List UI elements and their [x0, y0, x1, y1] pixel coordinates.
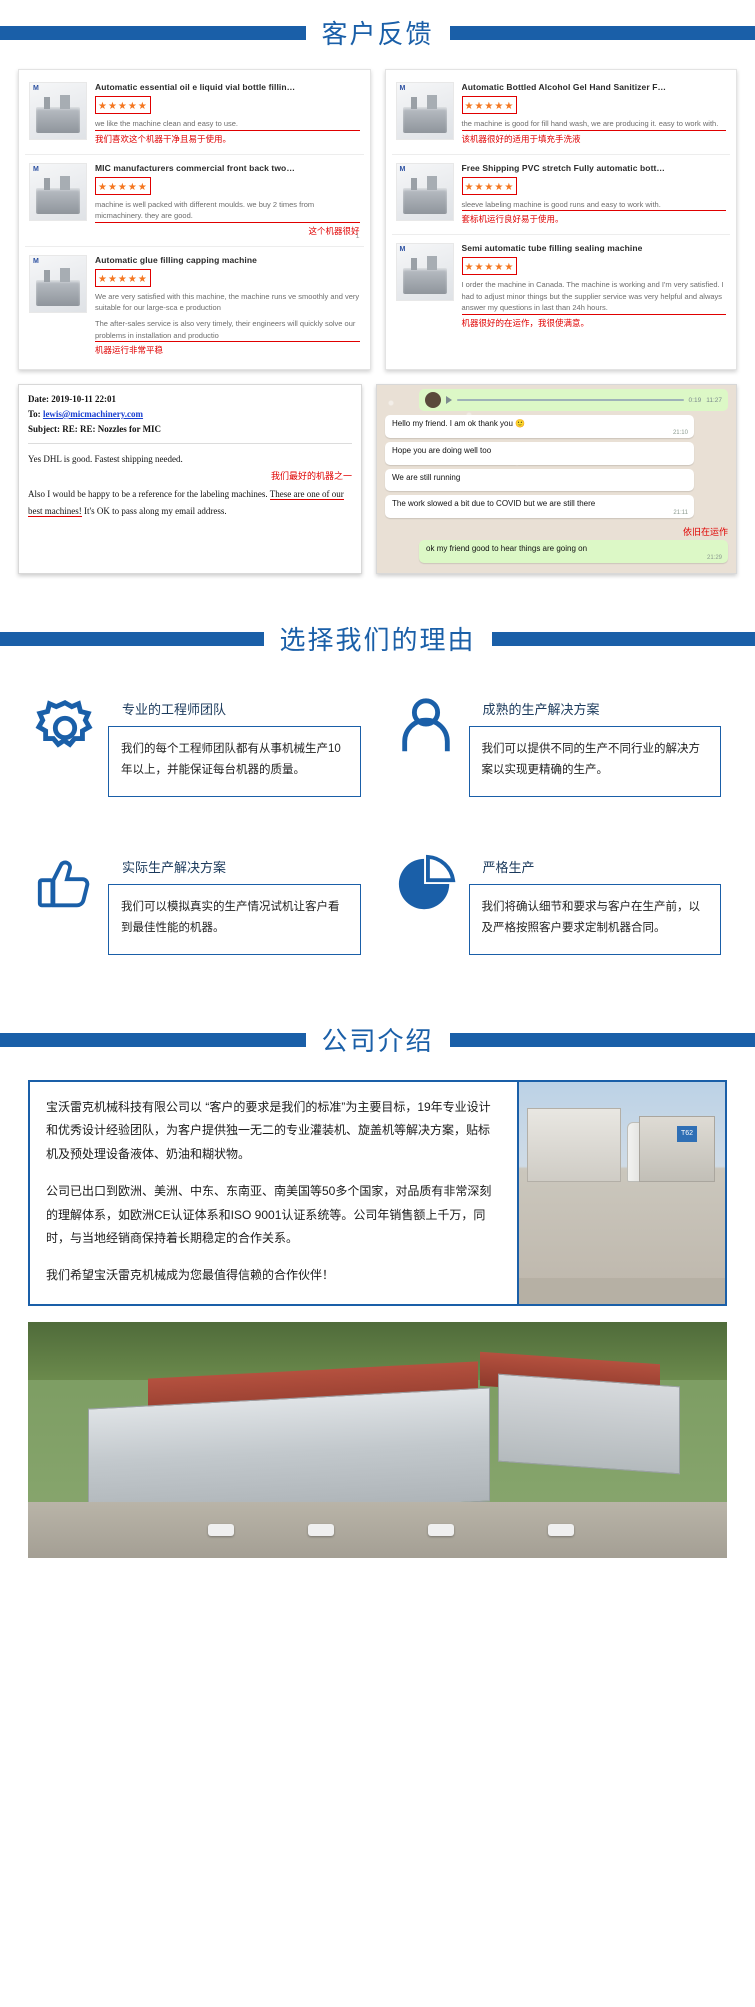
car [428, 1524, 454, 1536]
voice-message[interactable]: 0:19 11:27 [419, 389, 728, 411]
header-bar-left [0, 632, 264, 646]
review-card[interactable]: M Automatic essential oil e liquid vial … [25, 74, 364, 155]
email-to-label: To: [28, 409, 41, 419]
review-body: Semi automatic tube filling sealing mach… [462, 243, 727, 330]
road [28, 1502, 727, 1558]
email-date-value: 2019-10-11 22:01 [51, 394, 116, 404]
email-date-label: Date: [28, 394, 49, 404]
header-bar-left [0, 1033, 306, 1047]
company-paragraph-2: 公司已出口到欧洲、美洲、中东、东南亚、南美国等50多个国家，对品质有非常深刻的理… [46, 1180, 501, 1250]
star-rating: ★★★★★ [95, 96, 151, 114]
thumb-logo-icon: M [33, 166, 39, 173]
review-body: MIC manufacturers commercial front back … [95, 163, 360, 238]
chat-text: Hello my friend. I am ok thank you 🙂 [392, 419, 525, 428]
review-text-cn: 套标机运行良好易于使用。 [462, 214, 727, 226]
email-divider [28, 443, 352, 444]
star-rating: ★★★★★ [462, 177, 518, 195]
email-date-row: Date: 2019-10-11 22:01 [28, 392, 352, 407]
feedback-column-right: M Automatic Bottled Alcohol Gel Hand San… [385, 69, 738, 370]
stars-glyphs: ★★★★★ [98, 274, 148, 285]
page-root: 客户反馈 M Automatic essential oil e liquid … [0, 0, 755, 1582]
section-header-reasons: 选择我们的理由 [0, 620, 755, 657]
product-thumbnail: M [29, 255, 87, 313]
review-card[interactable]: M Semi automatic tube filling sealing ma… [392, 235, 731, 338]
header-bar-right [492, 632, 755, 646]
review-body: Automatic glue filling capping machine ★… [95, 255, 360, 357]
company-text: 宝沃雷克机械科技有限公司以 “客户的要求是我们的标准”为主要目标，19年专业设计… [30, 1082, 517, 1304]
company-intro-box: 宝沃雷克机械科技有限公司以 “客户的要求是我们的标准”为主要目标，19年专业设计… [28, 1080, 727, 1306]
email-line-2c: It's OK to pass along my email address. [82, 506, 227, 516]
voice-timestamp: 11:27 [706, 397, 722, 404]
company-paragraph-3: 我们希望宝沃雷克机械成为您最值得信赖的合作伙伴！ [46, 1264, 501, 1287]
gear-icon [34, 695, 96, 757]
thumb-logo-icon: M [33, 258, 39, 265]
review-text-en: sleeve labeling machine is good runs and… [462, 199, 727, 212]
thumb-logo-icon: M [400, 85, 406, 92]
review-title[interactable]: Automatic glue filling capping machine [95, 255, 360, 265]
play-icon[interactable] [446, 396, 452, 404]
chat-bubble: Hope you are doing well too [385, 442, 694, 465]
warehouse-building [527, 1108, 621, 1182]
chat-text: Hope you are doing well too [392, 446, 491, 455]
email-screenshot: Date: 2019-10-11 22:01 To: lewis@micmach… [18, 384, 362, 574]
star-rating: ★★★★★ [95, 177, 151, 195]
review-card[interactable]: M Automatic Bottled Alcohol Gel Hand San… [392, 74, 731, 155]
review-text-en: We are very satisfied with this machine,… [95, 291, 360, 314]
reason-body: 我们将确认细节和要求与客户在生产前，以及严格按照客户要求定制机器合同。 [469, 885, 722, 955]
review-text-cn: 机器运行非常平稳 [95, 345, 360, 357]
header-bar-right [450, 1033, 755, 1047]
reason-body: 我们的每个工程师团队都有从事机械生产10年以上，并能保证每台机器的质量。 [108, 727, 361, 797]
feedback-grid: M Automatic essential oil e liquid vial … [0, 51, 755, 370]
stars-glyphs: ★★★★★ [465, 101, 515, 112]
waveform-icon [457, 399, 684, 401]
product-thumbnail: M [396, 163, 454, 221]
reason-card-strict-production: 严格生产 我们将确认细节和要求与客户在生产前，以及严格按照客户要求定制机器合同。 [395, 851, 722, 981]
company-section-title: 公司介绍 [322, 1021, 434, 1058]
chat-text: ok my friend good to hear things are goi… [426, 544, 587, 553]
reasons-grid: 专业的工程师团队 我们的每个工程师团队都有从事机械生产10年以上，并能保证每台机… [0, 657, 755, 981]
review-text-en: machine is well packed with different mo… [95, 199, 360, 223]
review-card[interactable]: M Free Shipping PVC stretch Fully automa… [392, 155, 731, 236]
building-right [498, 1373, 680, 1474]
company-photo: T62 [517, 1082, 725, 1304]
chat-bubble: Hello my friend. I am ok thank you 🙂 21:… [385, 415, 694, 438]
email-line-2: Also I would be happy to be a reference … [28, 486, 352, 519]
pie-chart-icon [395, 853, 457, 915]
product-thumbnail: M [29, 163, 87, 221]
chat-annotation-cn: 依旧在运作 [683, 527, 728, 537]
reason-title: 专业的工程师团队 [108, 693, 361, 727]
car [548, 1524, 574, 1536]
chat-timestamp: 21:10 [673, 429, 688, 437]
star-rating: ★★★★★ [462, 257, 518, 275]
machine-silhouette-icon [403, 188, 447, 214]
header-bar-left [0, 26, 306, 40]
email-line-1: Yes DHL is good. Fastest shipping needed… [28, 451, 352, 468]
section-header-company: 公司介绍 [0, 1021, 755, 1058]
machine-silhouette-icon [36, 280, 80, 306]
review-text-cn: 这个机器很好 [95, 226, 360, 238]
machine-silhouette-icon [36, 107, 80, 133]
email-line-2a: Also I would be happy to be a reference … [28, 489, 270, 499]
stars-glyphs: ★★★★★ [98, 182, 148, 193]
reason-card-engineers: 专业的工程师团队 我们的每个工程师团队都有从事机械生产10年以上，并能保证每台机… [34, 693, 361, 823]
feedback-section-title: 客户反馈 [322, 14, 434, 51]
reason-title: 实际生产解决方案 [108, 851, 361, 885]
chat-bubble: ok my friend good to hear things are goi… [419, 540, 728, 563]
stars-glyphs: ★★★★★ [98, 101, 148, 112]
product-thumbnail: M [29, 82, 87, 140]
product-thumbnail: M [396, 82, 454, 140]
chat-text: We are still running [392, 473, 460, 482]
chat-bubble: We are still running [385, 469, 694, 492]
car [208, 1524, 234, 1536]
review-text-en-2: The after-sales service is also very tim… [95, 318, 360, 342]
person-icon [395, 695, 457, 757]
machine-silhouette-icon [36, 188, 80, 214]
thumb-logo-icon: M [400, 246, 406, 253]
company-paragraph-1: 宝沃雷克机械科技有限公司以 “客户的要求是我们的标准”为主要目标，19年专业设计… [46, 1096, 501, 1166]
email-subject-value: RE: RE: Nozzles for MIC [62, 424, 161, 434]
review-card[interactable]: M Automatic glue filling capping machine… [25, 247, 364, 365]
reasons-section-title: 选择我们的理由 [280, 620, 476, 657]
review-body: Automatic Bottled Alcohol Gel Hand Sanit… [462, 82, 727, 146]
review-count: 1 [356, 233, 360, 240]
review-text-cn: 我们喜欢这个机器干净且易于使用。 [95, 134, 360, 146]
review-title[interactable]: Semi automatic tube filling sealing mach… [462, 243, 727, 253]
factory-aerial-photo [28, 1322, 727, 1558]
email-subject-label: Subject: [28, 424, 60, 434]
reason-title: 成熟的生产解决方案 [469, 693, 722, 727]
photo-ground [519, 1278, 725, 1304]
chat-bubble: The work slowed a bit due to COVID but w… [385, 495, 694, 518]
machine-silhouette-icon [403, 107, 447, 133]
review-body: Free Shipping PVC stretch Fully automati… [462, 163, 727, 227]
header-bar-right [450, 26, 755, 40]
avatar [425, 392, 441, 408]
car [308, 1524, 334, 1536]
reason-card-real-production: 实际生产解决方案 我们可以模拟真实的生产情况试机让客户看到最佳性能的机器。 [34, 851, 361, 981]
review-title[interactable]: Automatic essential oil e liquid vial bo… [95, 82, 360, 92]
reason-card-solutions: 成熟的生产解决方案 我们可以提供不同的生产不同行业的解决方案以实现更精确的生产。 [395, 693, 722, 823]
thumbs-up-icon [34, 853, 96, 915]
product-thumbnail: M [396, 243, 454, 301]
thumb-logo-icon: M [400, 166, 406, 173]
reason-title: 严格生产 [469, 851, 722, 885]
review-text-en: the machine is good for fill hand wash, … [462, 118, 727, 131]
review-card[interactable]: M MIC manufacturers commercial front bac… [25, 155, 364, 247]
review-title[interactable]: Free Shipping PVC stretch Fully automati… [462, 163, 727, 173]
stars-glyphs: ★★★★★ [465, 182, 515, 193]
star-rating: ★★★★★ [462, 96, 518, 114]
reason-body: 我们可以模拟真实的生产情况试机让客户看到最佳性能的机器。 [108, 885, 361, 955]
review-title[interactable]: Automatic Bottled Alcohol Gel Hand Sanit… [462, 82, 727, 92]
chat-timestamp: 21:29 [707, 554, 722, 562]
email-to-row: To: lewis@micmachinery.com [28, 407, 352, 422]
whatsapp-screenshot: 0:19 11:27 Hello my friend. I am ok than… [376, 384, 737, 574]
review-text-cn: 机器很好的在运作，我很使满意。 [462, 318, 727, 330]
machine-silhouette-icon [403, 268, 447, 294]
thumb-logo-icon: M [33, 85, 39, 92]
chat-text: The work slowed a bit due to COVID but w… [392, 499, 595, 508]
photo-sign-label: T62 [677, 1126, 697, 1142]
review-title[interactable]: MIC manufacturers commercial front back … [95, 163, 360, 173]
chat-annotation-row: 依旧在运作 [385, 522, 728, 540]
review-text-cn: 该机器很好的适用于填充手洗液 [462, 134, 727, 146]
company-section: 宝沃雷克机械科技有限公司以 “客户的要求是我们的标准”为主要目标，19年专业设计… [0, 1058, 755, 1306]
chat-timestamp: 21:11 [673, 509, 688, 517]
review-text-en: we like the machine clean and easy to us… [95, 118, 360, 131]
email-to-link[interactable]: lewis@micmachinery.com [43, 409, 143, 419]
feedback-column-left: M Automatic essential oil e liquid vial … [18, 69, 371, 370]
star-rating: ★★★★★ [95, 269, 151, 287]
email-subject-row: Subject: RE: RE: Nozzles for MIC [28, 422, 352, 437]
voice-duration: 0:19 [689, 397, 702, 404]
review-body: Automatic essential oil e liquid vial bo… [95, 82, 360, 146]
review-text-en: I order the machine in Canada. The machi… [462, 279, 727, 315]
stars-glyphs: ★★★★★ [465, 262, 515, 273]
reason-body: 我们可以提供不同的生产不同行业的解决方案以实现更精确的生产。 [469, 727, 722, 797]
proof-row: Date: 2019-10-11 22:01 To: lewis@micmach… [0, 370, 755, 574]
email-cn-note: 我们最好的机器之一 [28, 469, 352, 482]
section-header-feedback: 客户反馈 [0, 14, 755, 51]
